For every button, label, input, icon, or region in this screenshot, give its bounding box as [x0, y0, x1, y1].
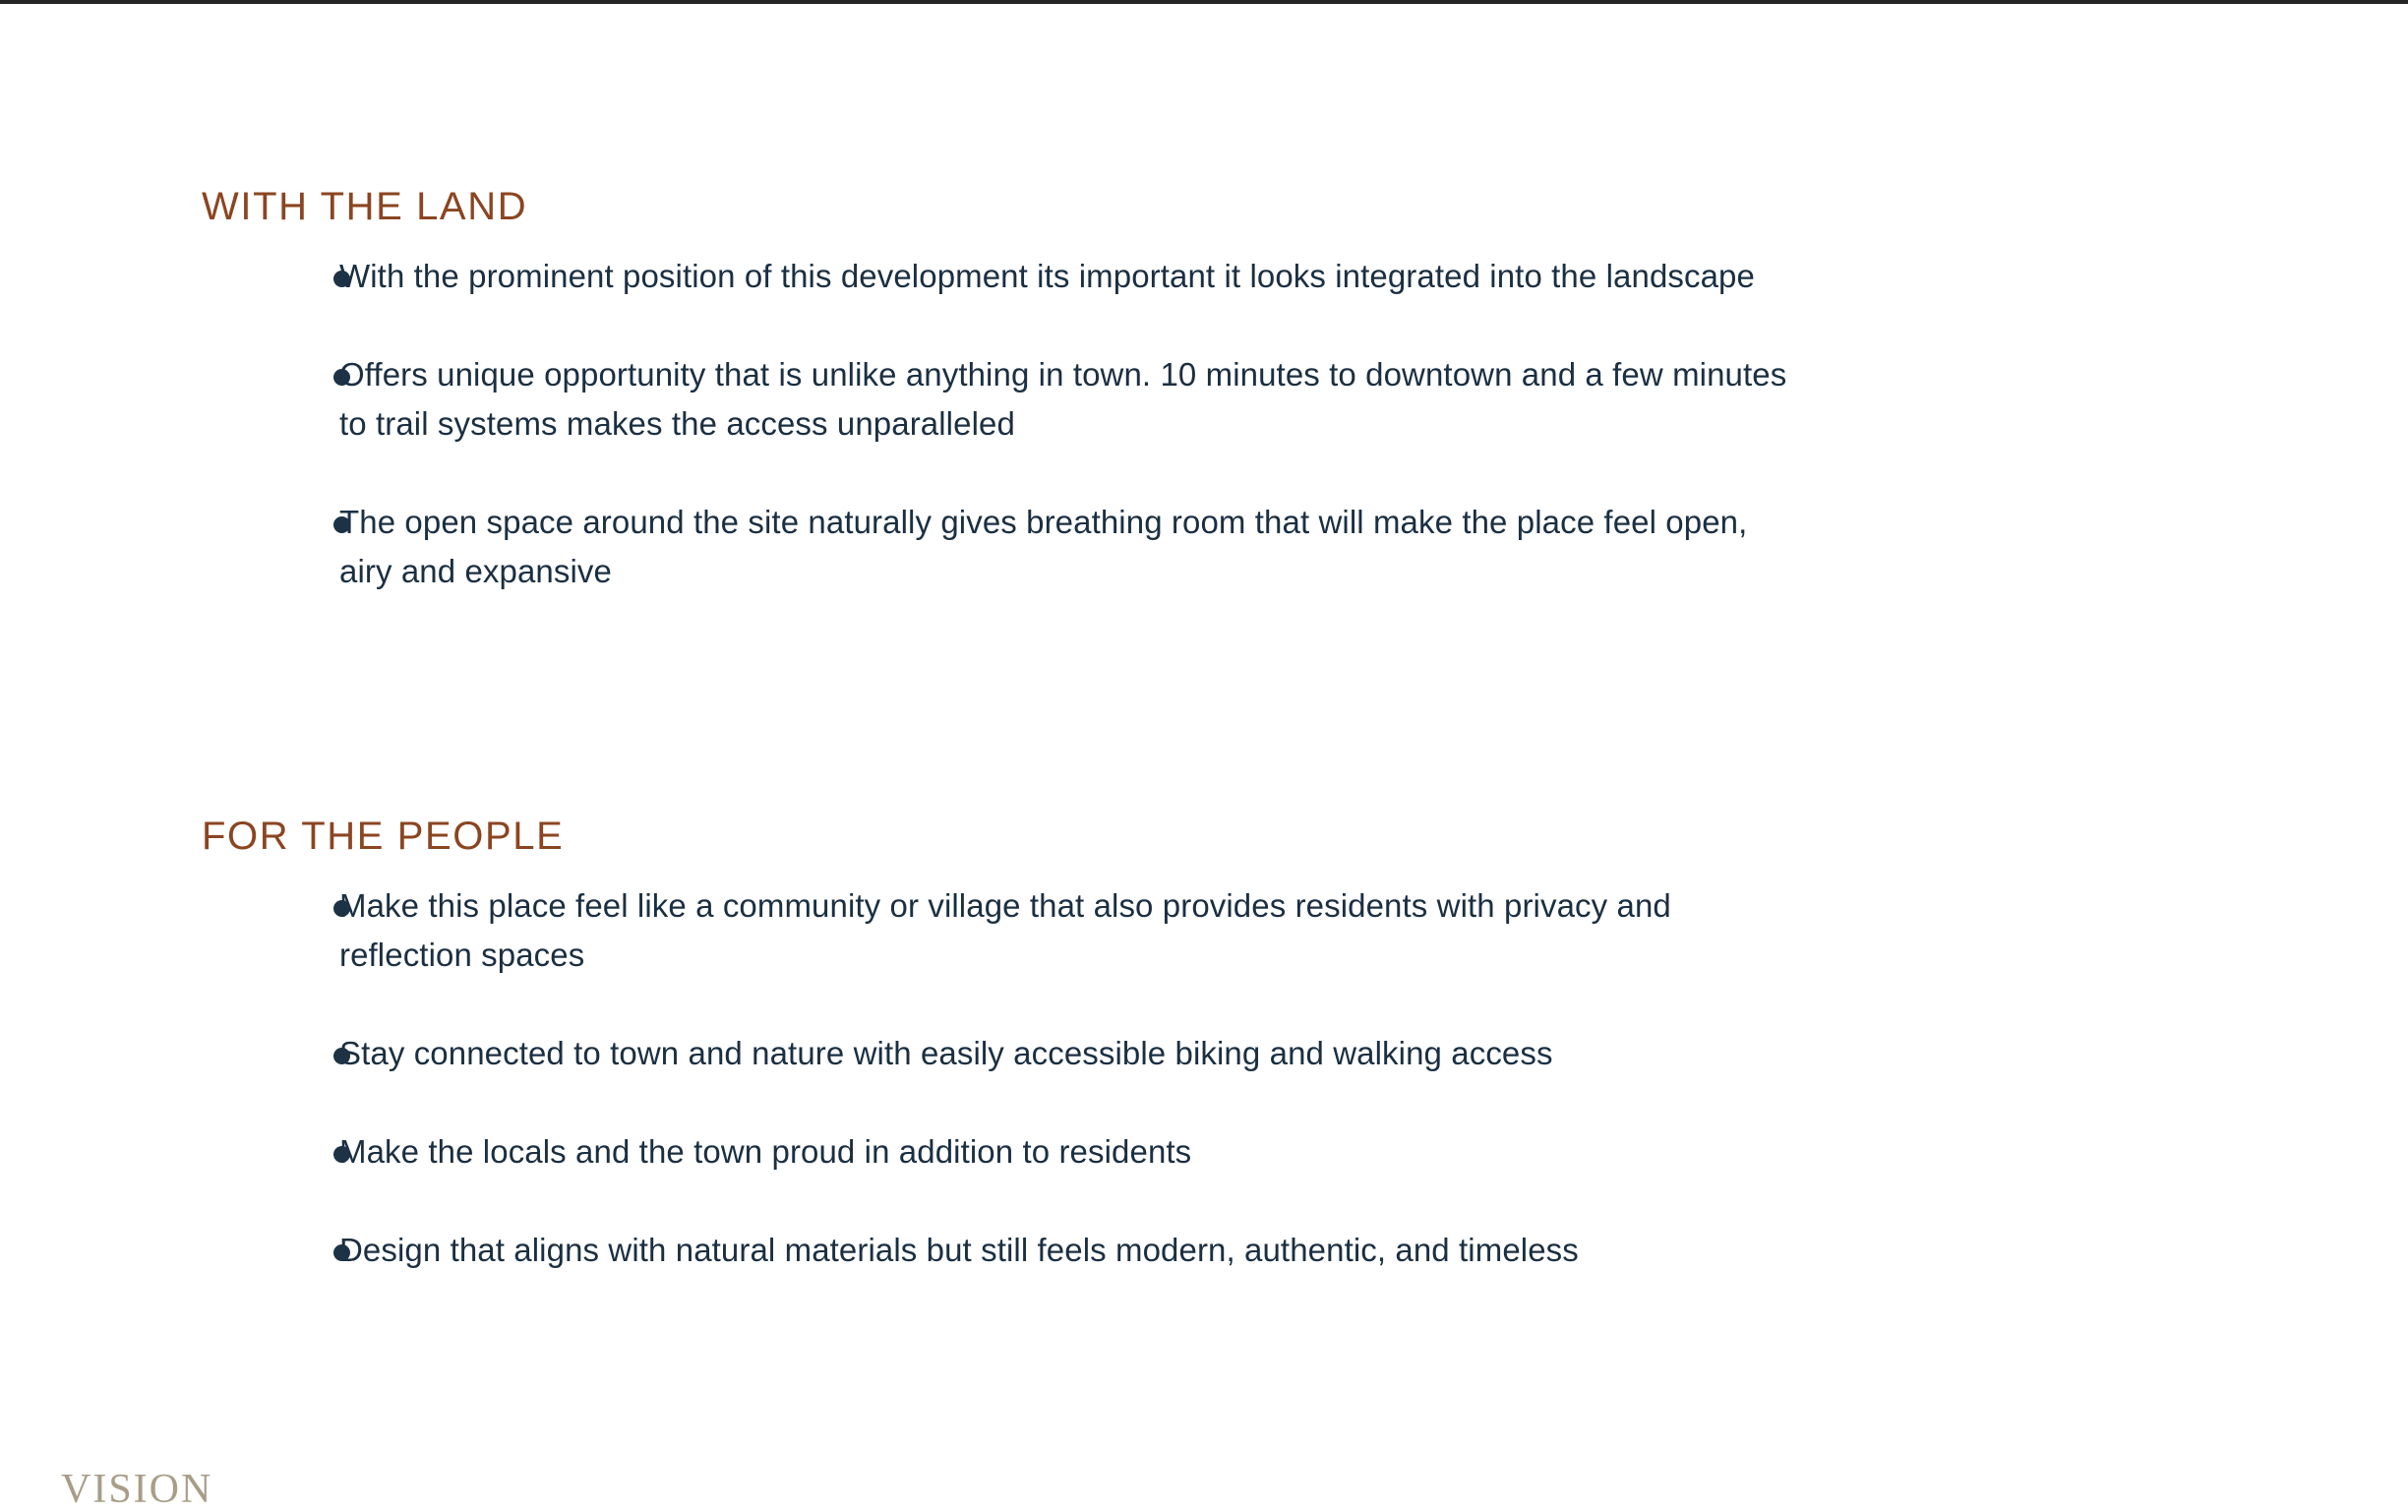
slide-canvas: WITH THE LAND With the prominent positio…: [0, 0, 2408, 1511]
section-heading-for-the-people: FOR THE PEOPLE: [202, 816, 1805, 856]
bullet-dot-icon: [333, 1048, 350, 1064]
bullet-text: The open space around the site naturally…: [339, 498, 1805, 596]
list-item: Design that aligns with natural material…: [202, 1226, 1805, 1275]
list-item: Make this place feel like a community or…: [202, 881, 1805, 980]
section-for-the-people: FOR THE PEOPLE Make this place feel like…: [202, 816, 1805, 1275]
list-item: Make the locals and the town proud in ad…: [202, 1127, 1805, 1177]
bullet-list-with-the-land: With the prominent position of this deve…: [202, 252, 1805, 596]
bullet-dot-icon: [333, 369, 350, 386]
bullet-dot-icon: [333, 516, 350, 533]
section-heading-with-the-land: WITH THE LAND: [202, 187, 1805, 226]
bullet-text: Make this place feel like a community or…: [339, 881, 1805, 980]
bullet-dot-icon: [333, 1146, 350, 1163]
list-item: Stay connected to town and nature with e…: [202, 1029, 1805, 1078]
list-item: The open space around the site naturally…: [202, 498, 1805, 596]
bullet-text: Design that aligns with natural material…: [339, 1226, 1805, 1275]
bullet-text: Stay connected to town and nature with e…: [339, 1029, 1805, 1078]
section-with-the-land: WITH THE LAND With the prominent positio…: [202, 187, 1805, 596]
bullet-list-for-the-people: Make this place feel like a community or…: [202, 881, 1805, 1275]
bullet-text: With the prominent position of this deve…: [339, 252, 1805, 301]
bullet-dot-icon: [333, 271, 350, 287]
bullet-dot-icon: [333, 900, 350, 917]
list-item: Offers unique opportunity that is unlike…: [202, 350, 1805, 449]
list-item: With the prominent position of this deve…: [202, 252, 1805, 301]
bullet-text: Offers unique opportunity that is unlike…: [339, 350, 1805, 449]
slide-section-label: VISION: [61, 1469, 212, 1510]
bullet-text: Make the locals and the town proud in ad…: [339, 1127, 1805, 1177]
bullet-dot-icon: [333, 1244, 350, 1261]
